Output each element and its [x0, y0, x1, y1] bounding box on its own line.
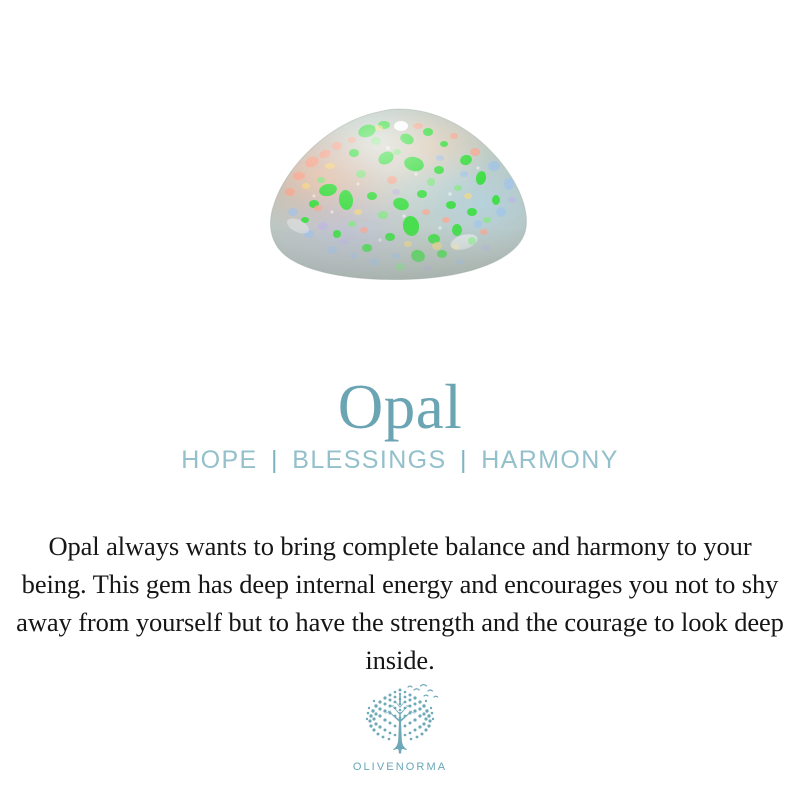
gem-image-area	[0, 0, 800, 300]
gemstone-keywords: HOPE | BLESSINGS | HARMONY	[0, 446, 800, 475]
opal-cabochon-icon	[268, 108, 530, 280]
tree-icon	[354, 682, 446, 758]
keyword-blessings: BLESSINGS	[292, 446, 446, 474]
gemstone-title: Opal	[0, 374, 800, 440]
keyword-separator-2: |	[455, 446, 473, 474]
brand-logo: OLIVENORMA	[0, 682, 800, 773]
gemstone-info-card: Opal HOPE | BLESSINGS | HARMONY Opal alw…	[0, 0, 800, 800]
bird-icon	[408, 685, 438, 697]
keyword-harmony: HARMONY	[481, 446, 619, 474]
brand-wordmark: OLIVENORMA	[353, 761, 447, 773]
keyword-hope: HOPE	[181, 446, 257, 474]
opal-cabochon	[268, 108, 530, 280]
keyword-separator-1: |	[266, 446, 284, 474]
gemstone-description: Opal always wants to bring complete bala…	[14, 527, 786, 679]
